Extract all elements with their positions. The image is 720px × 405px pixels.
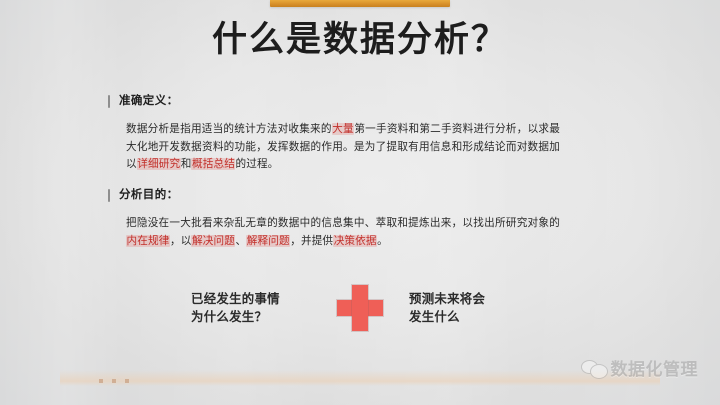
body-text-run: 、 [235, 235, 246, 247]
comparison-right-label: 预测未来将会 发生什么 [409, 290, 529, 326]
decorative-squares [99, 379, 129, 383]
decorative-square [112, 379, 116, 383]
comparison-left-label: 已经发生的事情 为什么发生？ [191, 290, 311, 326]
section-heading-label: 分析目的： [119, 186, 179, 202]
body-text-run: 数据分析是指用适当的统计方法对收集来的 [126, 123, 332, 135]
decorative-square [125, 379, 129, 383]
body-text-run: ，并提供 [290, 235, 333, 247]
section-heading-purpose: 分析目的： [108, 186, 179, 202]
section-paragraph-purpose: 把隐没在一大批看来杂乱无章的数据中的信息集中、萃取和提炼出来，以找出所研究对象的… [126, 215, 560, 250]
highlighted-term: 解决问题 [191, 235, 235, 247]
highlighted-term: 详细研究 [137, 158, 181, 170]
baseline-rule [99, 383, 635, 384]
section-heading-label: 准确定义： [119, 92, 179, 108]
page-title: 什么是数据分析？ [0, 18, 720, 62]
tick-marker-icon [108, 189, 110, 202]
body-text-run: ，以 [170, 235, 192, 247]
wechat-icon-bubble-front [590, 364, 608, 379]
highlighted-term: 大量 [332, 123, 355, 135]
slide-canvas: 什么是数据分析？ 准确定义： 数据分析是指用适当的统计方法对收集来的大量第一手资… [0, 0, 720, 405]
top-accent-bar [270, 0, 450, 7]
tick-marker-icon [108, 95, 110, 108]
watermark: 数据化管理 [581, 355, 699, 380]
highlighted-term: 决策依据 [333, 235, 377, 247]
watermark-label: 数据化管理 [611, 355, 699, 380]
highlighted-term: 内在规律 [126, 235, 170, 247]
body-text-run: 的过程。 [235, 158, 278, 170]
plus-icon [337, 285, 383, 331]
decorative-square [99, 379, 103, 383]
highlighted-term: 解释问题 [246, 235, 290, 247]
body-text-run: 。 [377, 235, 388, 247]
wechat-icon [581, 358, 607, 378]
highlighted-term: 概括总结 [191, 158, 235, 170]
plus-icon-vertical-bar [352, 285, 368, 331]
body-text-run: 把隐没在一大批看来杂乱无章的数据中的信息集中、萃取和提炼出来，以找出所研究对象的 [126, 217, 560, 229]
comparison-diagram: 已经发生的事情 为什么发生？ 预测未来将会 发生什么 [188, 279, 532, 337]
body-text-run: 和 [181, 158, 192, 170]
section-paragraph-definition: 数据分析是指用适当的统计方法对收集来的大量第一手资料和第二手资料进行分析，以求最… [126, 121, 560, 174]
section-heading-definition: 准确定义： [108, 92, 179, 108]
